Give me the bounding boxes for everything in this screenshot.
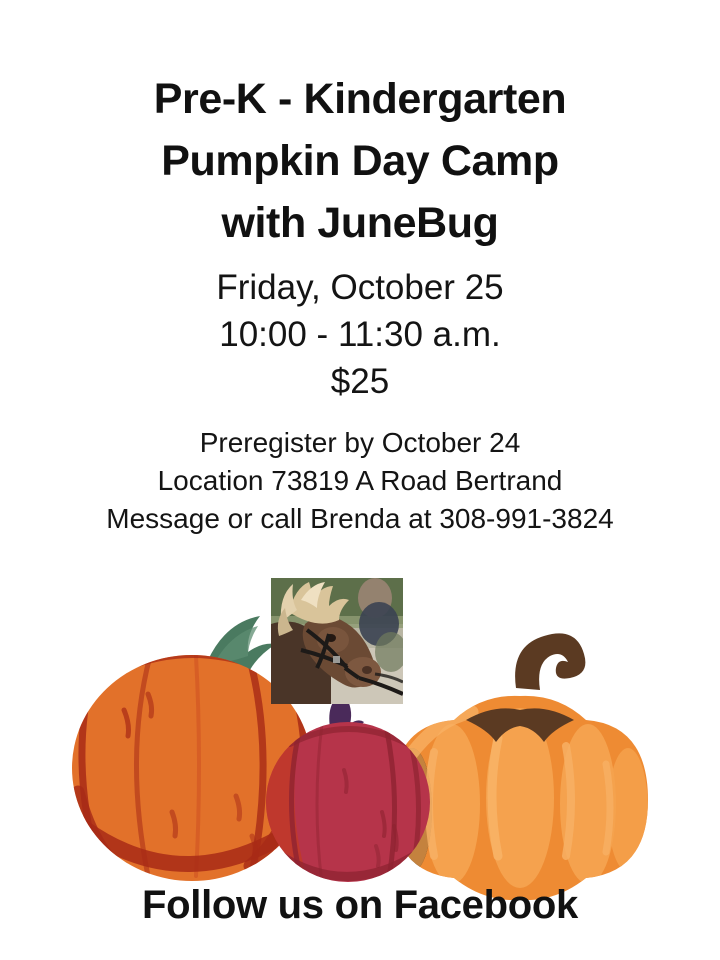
register-deadline: Preregister by October 24 — [0, 424, 720, 462]
headline-line-3: with JuneBug — [0, 192, 720, 254]
contact-phone: Message or call Brenda at 308-991-3824 — [0, 500, 720, 538]
event-date: Friday, October 25 — [0, 264, 720, 311]
page-title: Pre-K - Kindergarten Pumpkin Day Camp wi… — [0, 68, 720, 254]
pony-photo — [271, 578, 403, 704]
footer-cta: Follow us on Facebook — [0, 880, 720, 930]
headline-line-1: Pre-K - Kindergarten — [0, 68, 720, 130]
event-location: Location 73819 A Road Bertrand — [0, 462, 720, 500]
event-price: $25 — [0, 358, 720, 405]
pumpkin-right-orange — [392, 633, 648, 900]
event-details: Preregister by October 24 Location 73819… — [0, 424, 720, 538]
flyer-page: Pre-K - Kindergarten Pumpkin Day Camp wi… — [0, 0, 720, 960]
event-time: 10:00 - 11:30 a.m. — [0, 311, 720, 358]
headline-line-2: Pumpkin Day Camp — [0, 130, 720, 192]
event-schedule: Friday, October 25 10:00 - 11:30 a.m. $2… — [0, 264, 720, 405]
